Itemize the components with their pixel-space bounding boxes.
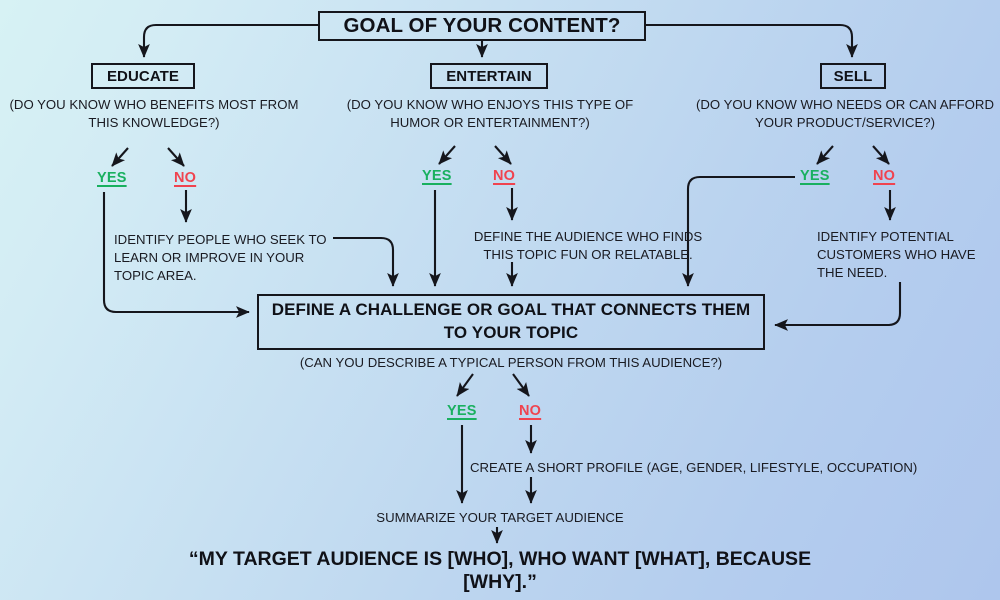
decision-no-challenge: NO xyxy=(519,403,541,419)
branch-question-sell: (DO YOU KNOW WHO NEEDS OR CAN AFFORD YOU… xyxy=(695,96,995,132)
decision-no-educate: NO xyxy=(174,170,196,186)
challenge-question: (CAN YOU DESCRIBE A TYPICAL PERSON FROM … xyxy=(257,354,765,372)
decision-no-sell: NO xyxy=(873,168,895,184)
decision-yes-educate: YES xyxy=(97,170,127,186)
branch-label-entertain: ENTERTAIN xyxy=(446,68,532,85)
decision-no-entertain: NO xyxy=(493,168,515,184)
final-statement: “MY TARGET AUDIENCE IS [WHO], WHO WANT [… xyxy=(150,548,850,594)
decision-yes-sell: YES xyxy=(800,168,830,184)
branch-box-educate: EDUCATE xyxy=(91,63,195,89)
goal-title-box: GOAL OF YOUR CONTENT? xyxy=(318,11,646,41)
challenge-box: DEFINE A CHALLENGE OR GOAL THAT CONNECTS… xyxy=(257,294,765,350)
branch-label-educate: EDUCATE xyxy=(107,68,179,85)
decision-yes-challenge: YES xyxy=(447,403,477,419)
outcome-sell-no: IDENTIFY POTENTIAL CUSTOMERS WHO HAVE TH… xyxy=(817,228,997,283)
challenge-title-text: DEFINE A CHALLENGE OR GOAL THAT CONNECTS… xyxy=(267,299,755,345)
goal-title-text: GOAL OF YOUR CONTENT? xyxy=(344,14,621,38)
branch-box-entertain: ENTERTAIN xyxy=(430,63,548,89)
decision-yes-entertain: YES xyxy=(422,168,452,184)
outcome-entertain-no: DEFINE THE AUDIENCE WHO FINDS THIS TOPIC… xyxy=(468,228,708,264)
outcome-summarize: SUMMARIZE YOUR TARGET AUDIENCE xyxy=(355,509,645,527)
branch-box-sell: SELL xyxy=(820,63,886,89)
flowchart-canvas: GOAL OF YOUR CONTENT? EDUCATE (DO YOU KN… xyxy=(0,0,1000,600)
outcome-educate-no: IDENTIFY PEOPLE WHO SEEK TO LEARN OR IMP… xyxy=(114,231,329,286)
branch-question-educate: (DO YOU KNOW WHO BENEFITS MOST FROM THIS… xyxy=(8,96,300,132)
outcome-create-profile: CREATE A SHORT PROFILE (AGE, GENDER, LIF… xyxy=(470,459,940,477)
branch-label-sell: SELL xyxy=(834,68,873,85)
branch-question-entertain: (DO YOU KNOW WHO ENJOYS THIS TYPE OF HUM… xyxy=(340,96,640,132)
